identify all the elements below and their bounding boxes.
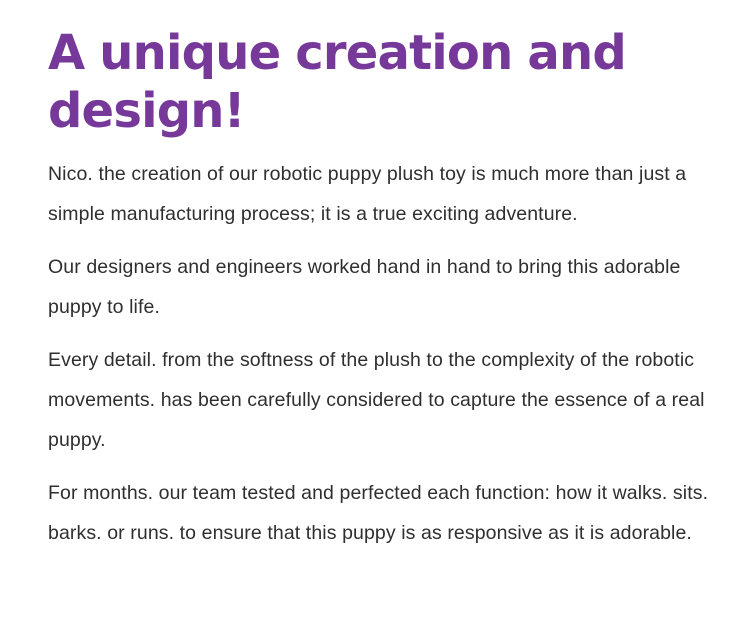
article-section: A unique creation and design! Nico. the … bbox=[0, 0, 750, 553]
article-paragraph-3: Every detail. from the softness of the p… bbox=[48, 340, 726, 460]
article-body: Nico. the creation of our robotic puppy … bbox=[48, 154, 726, 553]
article-paragraph-2: Our designers and engineers worked hand … bbox=[48, 247, 726, 327]
article-paragraph-1: Nico. the creation of our robotic puppy … bbox=[48, 154, 726, 234]
page-title: A unique creation and design! bbox=[48, 24, 688, 140]
article-paragraph-4: For months. our team tested and perfecte… bbox=[48, 473, 726, 553]
